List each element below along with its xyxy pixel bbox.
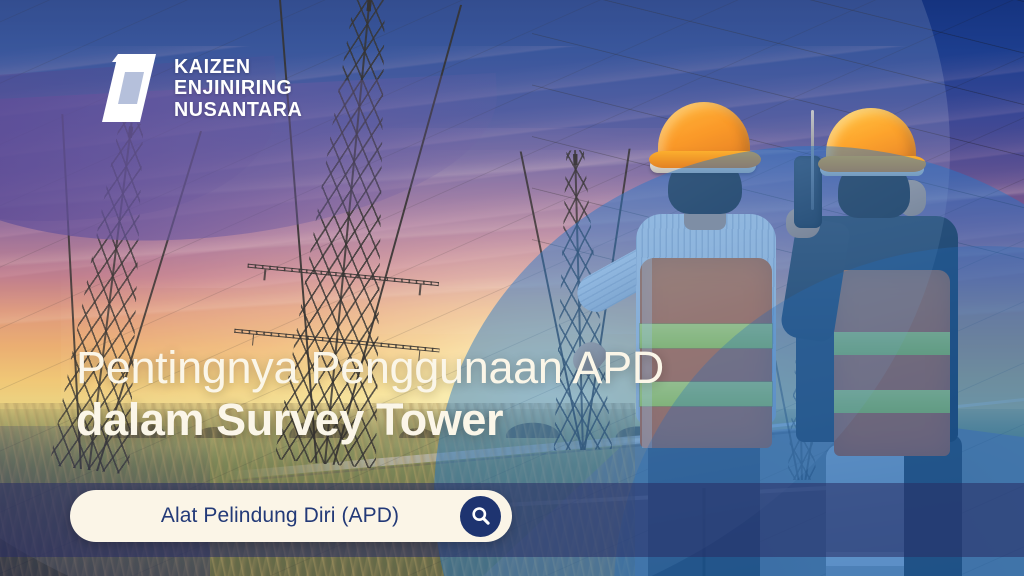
promo-banner: KAIZEN ENJINIRING NUSANTARA Pentingnya P…	[0, 0, 1024, 576]
worker-pointing	[580, 96, 780, 576]
walkie-talkie-antenna	[811, 110, 814, 210]
brand-name-line-1: KAIZEN	[174, 56, 302, 77]
headline-line-1: Pentingnya Penggunaan APD	[76, 344, 664, 393]
headline: Pentingnya Penggunaan APD dalam Survey T…	[76, 344, 664, 445]
cta-label: Alat Pelindung Diri (APD)	[70, 504, 460, 528]
cta-pill-button[interactable]: Alat Pelindung Diri (APD)	[70, 490, 512, 542]
brand-name-line-2: ENJINIRING	[174, 77, 302, 98]
brand-logo-lockup[interactable]: KAIZEN ENJINIRING NUSANTARA	[98, 52, 308, 124]
brand-name: KAIZEN ENJINIRING NUSANTARA	[174, 56, 302, 119]
worker-pointing-trousers	[648, 432, 760, 576]
search-icon[interactable]	[460, 496, 501, 537]
worker-radio-hard-hat	[826, 108, 916, 168]
worker-pointing-hard-hat	[658, 102, 750, 164]
headline-line-2: dalam Survey Tower	[76, 395, 664, 445]
brand-name-line-3: NUSANTARA	[174, 99, 302, 120]
walkie-talkie-icon	[794, 156, 822, 228]
worker-radio-safety-vest	[834, 270, 950, 456]
kaizen-rhombus-logo-icon	[98, 52, 160, 124]
worker-with-radio	[790, 104, 990, 576]
